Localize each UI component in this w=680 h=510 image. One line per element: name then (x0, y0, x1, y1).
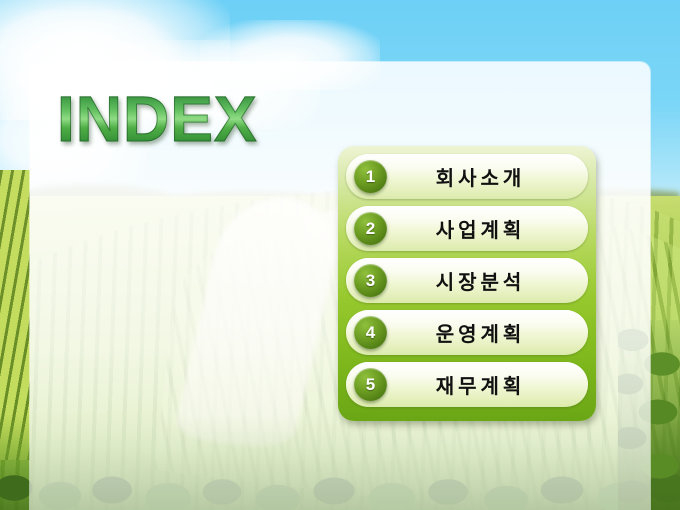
index-menu-item-4[interactable]: 4 운영계획 (346, 310, 588, 355)
index-menu-item-3[interactable]: 3 시장분석 (346, 258, 588, 303)
item-number-badge: 5 (354, 368, 387, 401)
index-menu-item-label: 운영계획 (387, 318, 588, 347)
item-number-badge: 4 (354, 316, 387, 349)
index-menu-item-label: 시장분석 (387, 266, 588, 295)
item-number-badge: 1 (354, 160, 387, 193)
index-menu-item-1[interactable]: 1 회사소개 (346, 154, 588, 199)
page-title: INDEX (57, 82, 258, 156)
presentation-slide: INDEX 1 회사소개 2 사업계획 3 시장분석 4 운영계획 5 재무계획 (0, 0, 680, 510)
item-number-badge: 2 (354, 212, 387, 245)
index-menu-panel: 1 회사소개 2 사업계획 3 시장분석 4 운영계획 5 재무계획 (338, 146, 596, 421)
item-number-badge: 3 (354, 264, 387, 297)
index-menu-item-2[interactable]: 2 사업계획 (346, 206, 588, 251)
index-menu-item-5[interactable]: 5 재무계획 (346, 362, 588, 407)
index-menu-item-label: 재무계획 (387, 370, 588, 399)
index-menu-list: 1 회사소개 2 사업계획 3 시장분석 4 운영계획 5 재무계획 (346, 154, 588, 407)
index-menu-item-label: 사업계획 (387, 214, 588, 243)
index-menu-item-label: 회사소개 (387, 162, 588, 191)
